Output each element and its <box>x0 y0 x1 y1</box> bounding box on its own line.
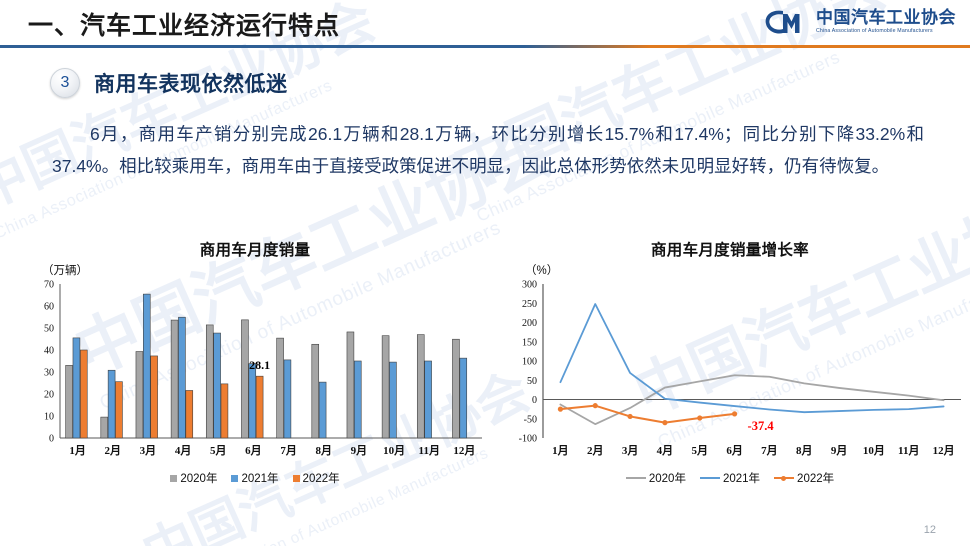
section-number-badge: 3 <box>50 68 80 98</box>
x-tick-label: 4月 <box>657 444 674 457</box>
logo-text-en: China Association of Automobile Manufact… <box>816 29 956 34</box>
bar-2020年-3月 <box>136 352 143 438</box>
page-header: 一、汽车工业经济运行特点 中国汽车工业协会 China Association … <box>0 0 970 46</box>
marker-2022年-5月 <box>697 415 702 420</box>
legend-swatch-2021 <box>700 477 720 479</box>
legend-item-2022: 2022年 <box>774 470 834 486</box>
legend-item-2020: 2020年 <box>170 470 217 486</box>
bar-2021年-6月 <box>249 364 256 438</box>
bar-2021年-1月 <box>73 338 80 438</box>
y-tick-label: 20 <box>44 390 54 401</box>
line-series-2021年 <box>560 304 943 412</box>
y-tick-label: -50 <box>524 414 537 425</box>
marker-2022年-3月 <box>627 414 632 419</box>
x-tick-label: 7月 <box>280 444 297 457</box>
x-tick-label: 12月 <box>453 444 475 457</box>
legend-item-2021: 2021年 <box>231 470 278 486</box>
x-tick-label: 12月 <box>933 444 955 457</box>
bar-2021年-12月 <box>460 358 467 438</box>
legend-swatch-2022 <box>293 475 300 482</box>
section-paragraph: 6月，商用车产销分别完成26.1万辆和28.1万辆，环比分别增长15.7%和17… <box>52 118 924 182</box>
logo-text-cn: 中国汽车工业协会 <box>816 9 956 26</box>
x-tick-label: 8月 <box>316 444 333 457</box>
y-tick-label: 40 <box>44 346 54 357</box>
bar-2020年-5月 <box>206 325 213 438</box>
data-label-minus-37-4: -37.4 <box>748 419 775 433</box>
x-tick-label: 9月 <box>351 444 368 457</box>
bar-2021年-11月 <box>425 361 432 438</box>
x-tick-label: 1月 <box>552 444 569 457</box>
y-tick-label: 250 <box>522 299 537 310</box>
bar-2020年-11月 <box>417 335 424 438</box>
x-tick-label: 11月 <box>898 444 919 457</box>
line-chart-svg: -100-500501001502002503001月2月3月4月5月6月7月8… <box>495 278 965 463</box>
bar-2020年-8月 <box>312 344 319 438</box>
y-tick-label: 30 <box>44 368 54 379</box>
bar-2020年-2月 <box>101 417 108 438</box>
marker-2022年-2月 <box>593 403 598 408</box>
bar-2021年-4月 <box>178 317 185 438</box>
bar-2021年-5月 <box>214 333 221 438</box>
bar-2020年-9月 <box>347 332 354 438</box>
bar-2022年-3月 <box>151 356 158 438</box>
legend-swatch-2020 <box>170 475 177 482</box>
y-tick-label: 100 <box>522 357 537 368</box>
legend-swatch-2021 <box>231 475 238 482</box>
line-plot-area: -100-500501001502002503001月2月3月4月5月6月7月8… <box>495 278 965 458</box>
bar-2020年-1月 <box>66 365 73 438</box>
y-tick-label: 150 <box>522 337 537 348</box>
chart-title: 商用车月度销量 <box>20 238 490 260</box>
marker-2022年-6月 <box>732 411 737 416</box>
y-tick-label: -100 <box>519 434 537 445</box>
bar-2022年-1月 <box>80 350 87 438</box>
data-label-28-1: 28.1 <box>249 358 270 372</box>
divider-orange-segment <box>650 45 970 48</box>
x-tick-label: 11月 <box>419 444 440 457</box>
chart-legend: 2020年 2021年 2022年 <box>495 470 965 486</box>
bar-2021年-3月 <box>143 294 150 438</box>
bar-2021年-2月 <box>108 370 115 438</box>
x-tick-label: 5月 <box>692 444 709 457</box>
legend-item-2022: 2022年 <box>293 470 340 486</box>
x-tick-label: 3月 <box>140 444 157 457</box>
x-tick-label: 6月 <box>726 444 743 457</box>
chart-legend: 2020年 2021年 2022年 <box>20 470 490 486</box>
y-tick-label: 0 <box>532 395 537 406</box>
x-tick-label: 6月 <box>245 444 262 457</box>
y-tick-label: 70 <box>44 280 54 291</box>
header-divider <box>0 45 970 48</box>
bar-2020年-6月 <box>241 320 248 438</box>
marker-2022年-1月 <box>558 407 563 412</box>
x-tick-label: 2月 <box>587 444 604 457</box>
chart-unit-label: （万辆） <box>42 262 490 278</box>
y-tick-label: 50 <box>44 324 54 335</box>
section-title: 商用车表现依然低迷 <box>94 68 288 98</box>
bar-2020年-7月 <box>277 338 284 438</box>
legend-label-2022: 2022年 <box>797 470 834 486</box>
legend-label-2021: 2021年 <box>723 470 760 486</box>
bar-2020年-4月 <box>171 320 178 438</box>
divider-blue-segment <box>0 45 524 48</box>
legend-label-2021: 2021年 <box>241 470 278 486</box>
x-tick-label: 10月 <box>863 444 885 457</box>
x-tick-label: 7月 <box>761 444 778 457</box>
divider-gradient-segment <box>524 45 650 48</box>
x-tick-label: 10月 <box>383 444 405 457</box>
legend-label-2020: 2020年 <box>649 470 686 486</box>
bar-2022年-5月 <box>221 384 228 438</box>
x-tick-label: 1月 <box>69 444 86 457</box>
x-tick-label: 2月 <box>105 444 122 457</box>
y-tick-label: 200 <box>522 318 537 329</box>
page-number: 12 <box>924 524 936 536</box>
chart-title: 商用车月度销量增长率 <box>495 238 965 260</box>
bar-2020年-10月 <box>382 336 389 438</box>
chart-commercial-vehicle-monthly-sales: 商用车月度销量 （万辆） 0102030405060701月2月3月4月5月6月… <box>20 238 490 506</box>
legend-item-2021: 2021年 <box>700 470 760 486</box>
bar-2020年-12月 <box>452 339 459 438</box>
bar-2021年-8月 <box>319 382 326 438</box>
section-heading: 3 商用车表现依然低迷 <box>50 68 288 98</box>
bar-2021年-10月 <box>389 362 396 438</box>
y-tick-label: 50 <box>527 376 537 387</box>
cam-logo-icon <box>763 8 809 36</box>
bar-2021年-7月 <box>284 360 291 438</box>
bar-plot-area: 0102030405060701月2月3月4月5月6月7月8月9月10月11月1… <box>20 278 490 458</box>
bar-2022年-6月 <box>256 376 263 438</box>
page-title: 一、汽车工业经济运行特点 <box>28 6 340 42</box>
x-tick-label: 5月 <box>210 444 227 457</box>
legend-swatch-2020 <box>626 477 646 479</box>
marker-2022年-4月 <box>662 420 667 425</box>
x-tick-label: 9月 <box>831 444 848 457</box>
chart-unit-label: （%） <box>525 262 965 278</box>
bar-chart-svg: 0102030405060701月2月3月4月5月6月7月8月9月10月11月1… <box>20 278 490 463</box>
x-tick-label: 8月 <box>796 444 813 457</box>
legend-label-2020: 2020年 <box>180 470 217 486</box>
bar-2021年-9月 <box>354 361 361 438</box>
x-tick-label: 3月 <box>622 444 639 457</box>
legend-swatch-2022 <box>774 477 794 479</box>
y-tick-label: 300 <box>522 280 537 291</box>
bar-2022年-2月 <box>115 382 122 438</box>
y-tick-label: 0 <box>49 434 54 445</box>
x-tick-label: 4月 <box>175 444 192 457</box>
association-logo: 中国汽车工业协会 China Association of Automobile… <box>763 8 956 36</box>
legend-item-2020: 2020年 <box>626 470 686 486</box>
bar-2022年-4月 <box>186 390 193 438</box>
chart-commercial-vehicle-growth-rate: 商用车月度销量增长率 （%） -100-50050100150200250300… <box>495 238 965 506</box>
y-tick-label: 60 <box>44 302 54 313</box>
legend-label-2022: 2022年 <box>303 470 340 486</box>
y-tick-label: 10 <box>44 412 54 423</box>
